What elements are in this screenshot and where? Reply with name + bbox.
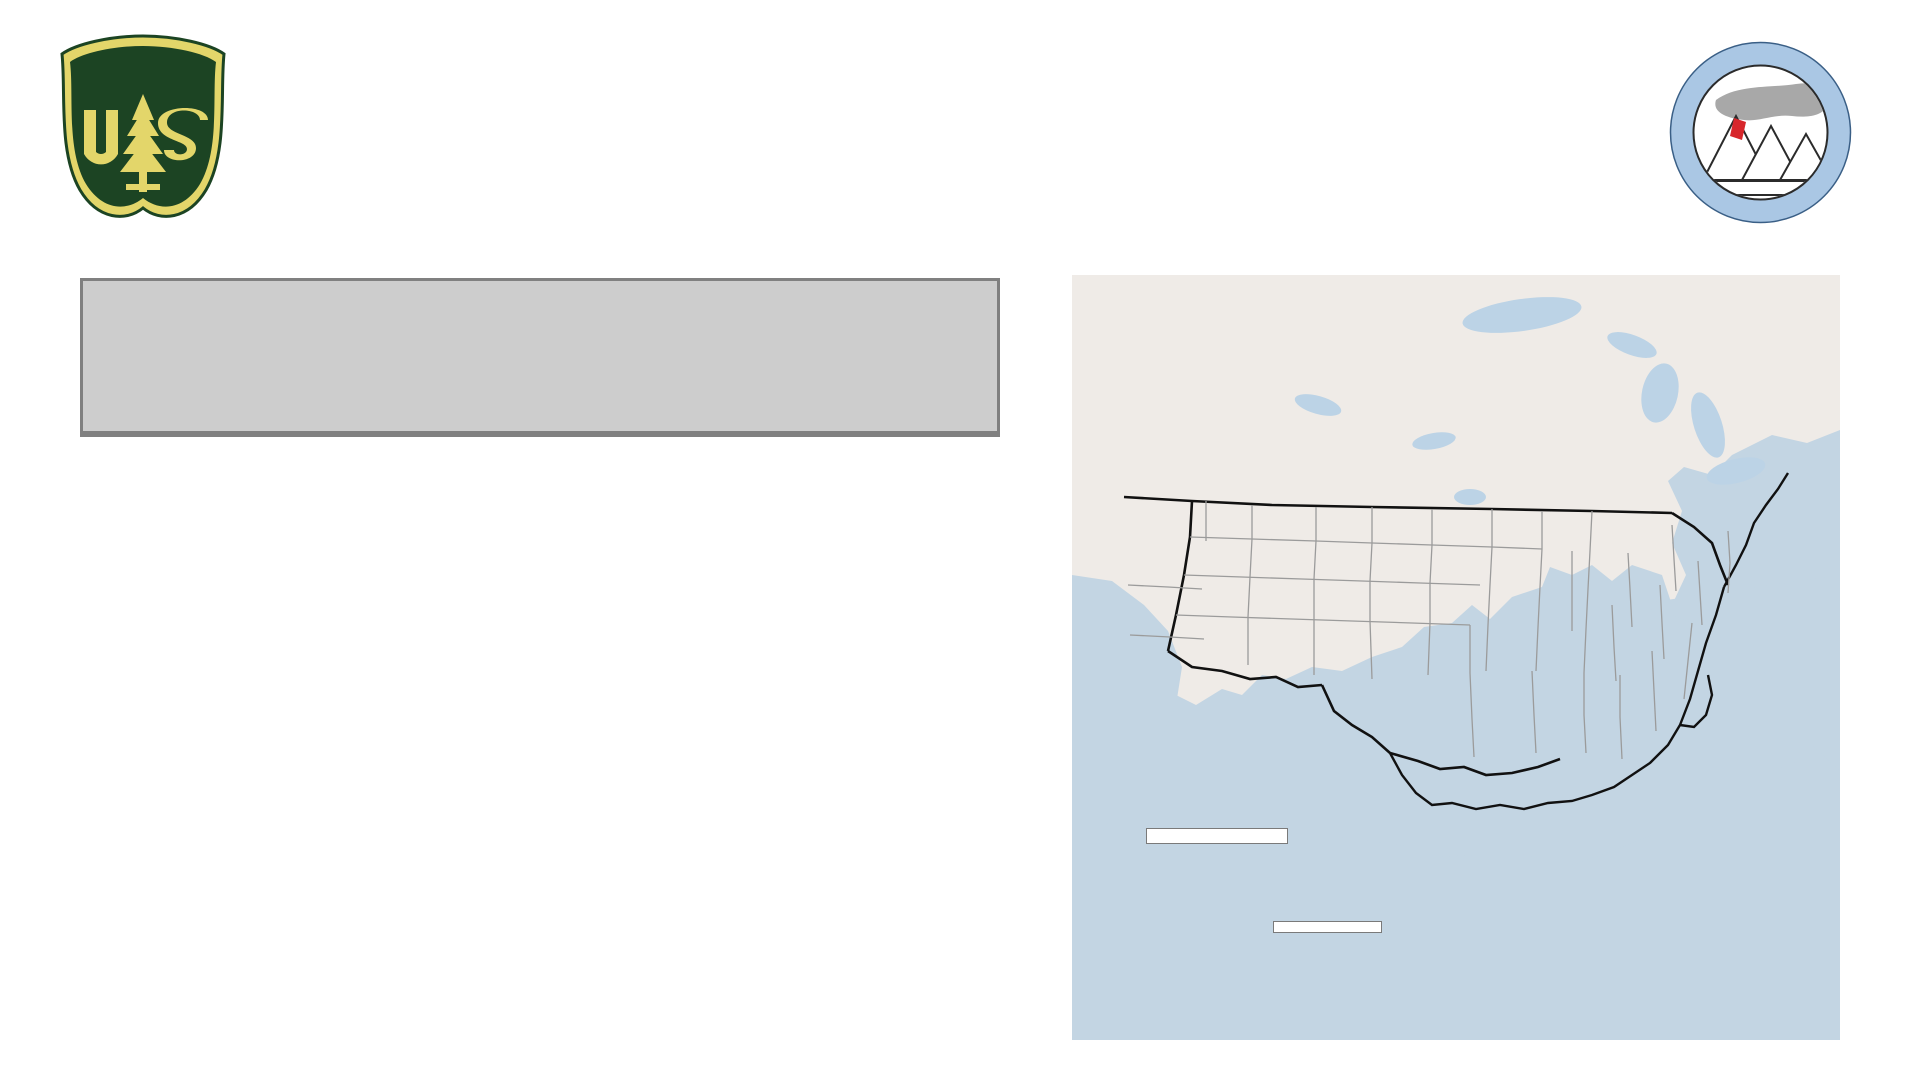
forest-service-logo xyxy=(48,32,238,227)
table-header-row xyxy=(83,281,997,433)
aqi-legend xyxy=(1146,828,1288,844)
top-nowcast-table xyxy=(80,278,1000,437)
wildland-fire-air-quality-logo xyxy=(1668,40,1853,225)
map-canvas[interactable] xyxy=(1072,275,1840,1040)
site-type-legend xyxy=(1273,921,1382,933)
column-header-pm-nowcast[interactable] xyxy=(768,281,997,433)
aqi-map[interactable] xyxy=(1072,275,1840,1040)
column-header-site[interactable] xyxy=(83,281,577,433)
column-header-state[interactable] xyxy=(577,281,769,433)
